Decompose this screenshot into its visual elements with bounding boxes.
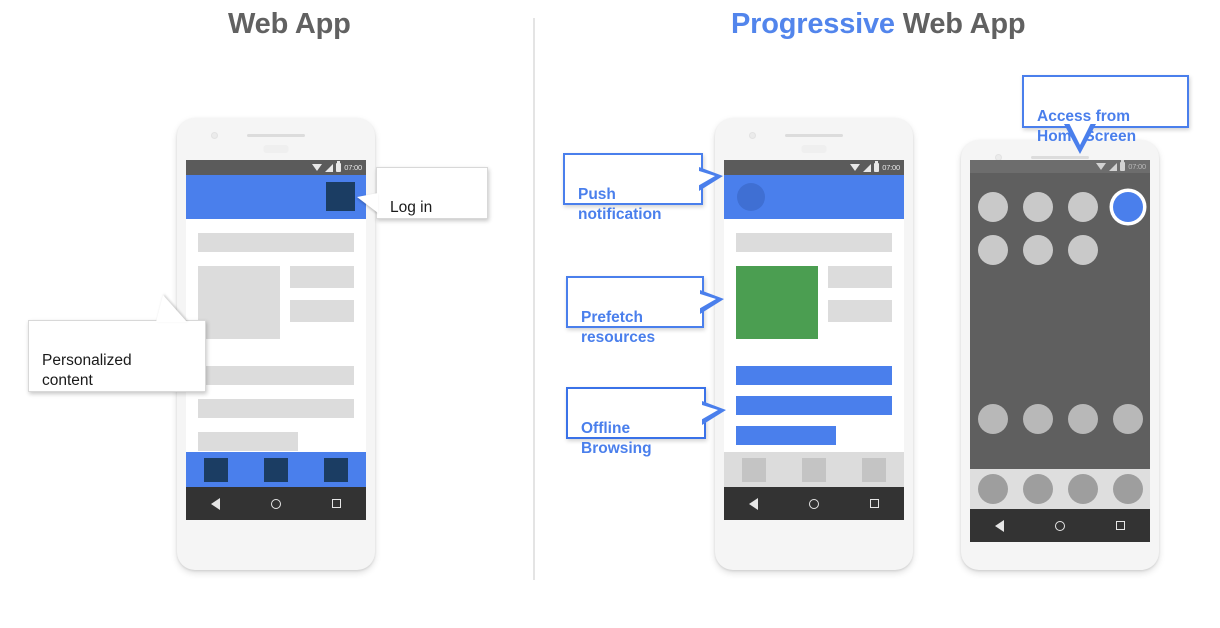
app-icon[interactable] — [1023, 235, 1053, 265]
skeleton-bar — [828, 300, 892, 322]
skeleton-split-row — [198, 266, 354, 339]
page-title-progressive-web-app: Progressive Web App — [731, 8, 1025, 41]
callout-log-in-label: Log in — [390, 199, 432, 216]
cell-signal-icon — [863, 164, 871, 172]
skeleton-bar — [290, 300, 354, 322]
sensor-strip — [802, 145, 827, 153]
app-icon[interactable] — [1068, 192, 1098, 222]
pwa-phone-mockup: 07:00 — [715, 118, 913, 570]
sensor-strip — [264, 145, 289, 153]
callout-prefetch-resources: Prefetch resources — [566, 276, 704, 328]
callout-push-label: Push notification — [578, 186, 662, 223]
app-icon-empty-slot — [1113, 235, 1143, 265]
back-triangle-icon[interactable] — [995, 520, 1004, 532]
tab-tile[interactable] — [264, 458, 288, 482]
skeleton-bar — [736, 233, 892, 252]
callout-tail — [357, 193, 378, 213]
battery-icon — [336, 163, 341, 172]
recents-square-icon[interactable] — [870, 499, 879, 508]
home-screen-wallpaper: 07:00 — [970, 160, 1150, 542]
callout-tail — [702, 401, 726, 425]
tab-tile[interactable] — [802, 458, 826, 482]
offline-content-bar — [736, 366, 892, 385]
callout-offline-browsing: Offline Browsing — [566, 387, 706, 439]
app-icon[interactable] — [1113, 404, 1143, 434]
pwa-bottom-tabbar[interactable] — [724, 452, 904, 487]
home-circle-icon[interactable] — [1055, 521, 1065, 531]
tab-tile[interactable] — [742, 458, 766, 482]
app-icon[interactable] — [978, 235, 1008, 265]
home-screen-lower-icons — [970, 404, 1150, 434]
android-nav-bar[interactable] — [970, 509, 1150, 542]
offline-content-bar — [736, 426, 836, 445]
front-camera-icon — [749, 132, 756, 139]
front-camera-icon — [211, 132, 218, 139]
home-screen: 07:00 — [970, 160, 1150, 542]
back-triangle-icon[interactable] — [749, 498, 758, 510]
dock-app-icon[interactable] — [978, 474, 1008, 504]
status-bar: 07:00 — [724, 160, 904, 175]
prefetched-image-block — [736, 266, 818, 339]
dock-app-icon[interactable] — [1113, 474, 1143, 504]
web-app-content-skeleton — [186, 219, 366, 451]
tab-tile[interactable] — [862, 458, 886, 482]
skeleton-split-row — [736, 266, 892, 339]
skeleton-bar — [198, 233, 354, 252]
skeleton-bar — [198, 432, 298, 451]
title-left-text: Web App — [228, 8, 351, 40]
dock-app-icon[interactable] — [1023, 474, 1053, 504]
app-icon-empty-slot — [1023, 404, 1053, 434]
app-icon[interactable] — [978, 192, 1008, 222]
pwa-header-bar — [724, 175, 904, 219]
web-app-bottom-tabbar[interactable] — [186, 452, 366, 487]
home-circle-icon[interactable] — [809, 499, 819, 509]
battery-icon — [874, 163, 879, 172]
diagram-canvas: Web App Progressive Web App 07:00 — [0, 0, 1220, 628]
callout-tail — [156, 295, 187, 322]
recents-square-icon[interactable] — [1116, 521, 1125, 530]
callout-tail — [699, 167, 723, 191]
wifi-icon — [850, 164, 860, 171]
section-divider — [533, 18, 535, 580]
push-notification-bubble[interactable] — [737, 183, 765, 211]
wifi-icon — [1096, 163, 1106, 170]
skeleton-thumbnail — [198, 266, 280, 339]
home-screen-phone-mockup: 07:00 — [961, 140, 1159, 570]
home-screen-icon-grid — [970, 192, 1150, 265]
title-right-rest: Web App — [895, 8, 1026, 40]
earpiece-speaker — [247, 134, 305, 137]
battery-icon — [1120, 162, 1125, 171]
home-screen-dock[interactable] — [970, 469, 1150, 509]
wifi-icon — [312, 164, 322, 171]
app-icon[interactable] — [1068, 235, 1098, 265]
page-title-web-app: Web App — [228, 8, 351, 41]
earpiece-speaker — [785, 134, 843, 137]
callout-offline-label: Offline Browsing — [581, 420, 652, 457]
spacer — [198, 339, 354, 366]
home-circle-icon[interactable] — [271, 499, 281, 509]
app-icon[interactable] — [1023, 192, 1053, 222]
cell-signal-icon — [325, 164, 333, 172]
callout-access-from-home-screen: Access from Home Screen — [1022, 75, 1189, 128]
status-bar: 07:00 — [970, 160, 1150, 173]
spacer — [736, 339, 892, 366]
login-avatar-chip[interactable] — [326, 182, 355, 211]
callout-tail — [1064, 124, 1096, 154]
dock-app-icon[interactable] — [1068, 474, 1098, 504]
skeleton-bar — [198, 366, 354, 385]
cell-signal-icon — [1109, 163, 1117, 171]
tab-tile[interactable] — [204, 458, 228, 482]
back-triangle-icon[interactable] — [211, 498, 220, 510]
status-bar-clock: 07:00 — [344, 163, 362, 172]
recents-square-icon[interactable] — [332, 499, 341, 508]
app-icon-empty-slot — [978, 404, 1008, 434]
pwa-screen: 07:00 — [724, 160, 904, 520]
callout-log-in: Log in — [376, 167, 488, 219]
skeleton-bar — [198, 399, 354, 418]
callout-personalized-content: Personalized content — [28, 320, 206, 392]
app-icon[interactable] — [1068, 404, 1098, 434]
callout-prefetch-label: Prefetch resources — [581, 309, 655, 346]
android-nav-bar[interactable] — [186, 487, 366, 520]
callout-tail — [700, 290, 724, 314]
web-app-screen: 07:00 — [186, 160, 366, 520]
web-app-phone-mockup: 07:00 — [177, 118, 375, 570]
pwa-content-skeleton — [724, 219, 904, 445]
skeleton-bar — [290, 266, 354, 288]
offline-content-bar — [736, 396, 892, 415]
earpiece-speaker — [1031, 156, 1089, 159]
pwa-app-icon-highlighted[interactable] — [1113, 192, 1143, 222]
title-accent-word: Progressive — [731, 8, 895, 40]
status-bar: 07:00 — [186, 160, 366, 175]
callout-push-notification: Push notification — [563, 153, 703, 205]
android-nav-bar[interactable] — [724, 487, 904, 520]
tab-tile[interactable] — [324, 458, 348, 482]
web-app-header-bar — [186, 175, 366, 219]
status-bar-clock: 07:00 — [882, 163, 900, 172]
status-bar-clock: 07:00 — [1128, 162, 1146, 171]
callout-personalized-label: Personalized content — [42, 352, 132, 389]
skeleton-bar — [828, 266, 892, 288]
